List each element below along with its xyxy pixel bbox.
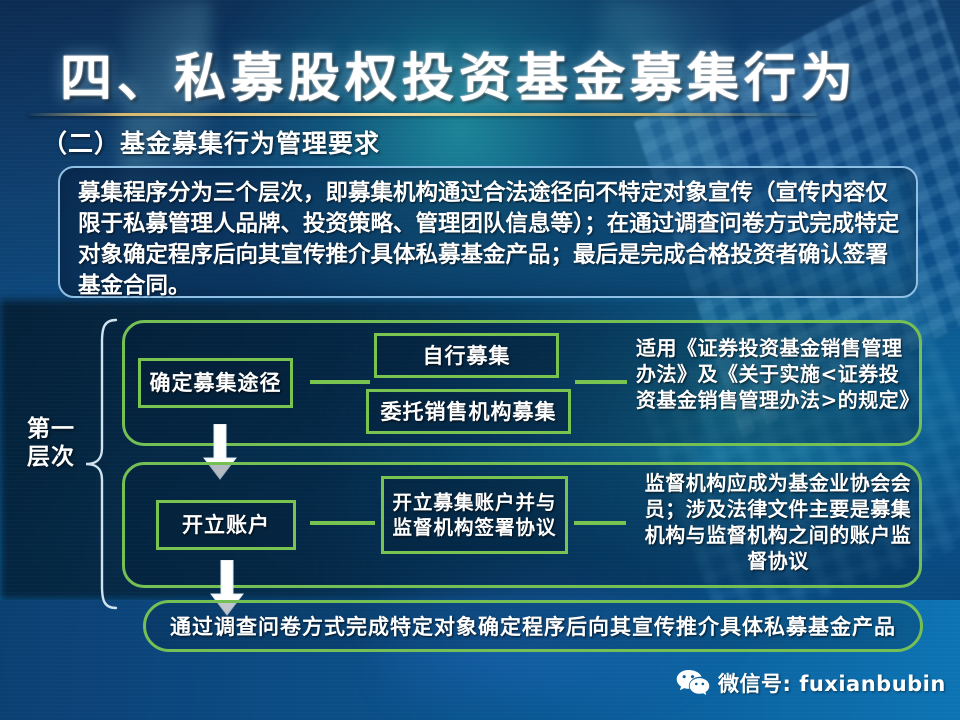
flow-node-entrust-sales[interactable]: 委托销售机构募集 [366, 389, 571, 434]
flow-node-open-raising-account[interactable]: 开立募集账户并与监督机构签署协议 [381, 476, 568, 554]
intro-paragraph: 募集程序分为三个层次，即募集机构通过合法途径向不特定对象宣传（宣传内容仅限于私募… [78, 178, 900, 302]
level-label-line2: 层次 [27, 444, 75, 470]
connector-row1-left [310, 380, 370, 384]
flow-node-self-raise[interactable]: 自行募集 [374, 333, 559, 378]
page-subtitle: （二）基金募集行为管理要求 [42, 124, 380, 160]
intro-callout-box: 募集程序分为三个层次，即募集机构通过合法途径向不特定对象宣传（宣传内容仅限于私募… [58, 166, 918, 298]
page-title: 四、私募股权投资基金募集行为 [60, 36, 858, 111]
watermark-text: 微信号: fuxianbubin [718, 668, 946, 698]
level-label-line1: 第一 [27, 416, 75, 442]
connector-row2-right [574, 521, 626, 525]
flow-node-determine-channel[interactable]: 确定募集途径 [138, 358, 293, 408]
connector-row1-right [575, 380, 627, 384]
title-divider [28, 113, 818, 116]
watermark: 微信号: fuxianbubin [676, 668, 946, 698]
level-label: 第一层次 [20, 415, 82, 471]
slide-root: 四、私募股权投资基金募集行为 （二）基金募集行为管理要求 募集程序分为三个层次，… [0, 0, 960, 720]
flow-note-row-1: 适用《证券投资基金销售管理办法》及《关于实施<证券投资基金销售管理办法>的规定》 [636, 335, 916, 413]
wechat-icon [676, 669, 710, 697]
connector-row2-left [310, 521, 375, 525]
level-brace-icon [82, 318, 118, 610]
flow-node-final-step[interactable]: 通过调查问卷方式完成特定对象确定程序后向其宣传推介具体私募基金产品 [143, 600, 923, 652]
flow-note-row-2: 监督机构应成为基金业协会会员；涉及法律文件主要是募集机构与监督机构之间的账户监督… [638, 470, 918, 574]
flow-node-open-account[interactable]: 开立账户 [156, 500, 296, 550]
